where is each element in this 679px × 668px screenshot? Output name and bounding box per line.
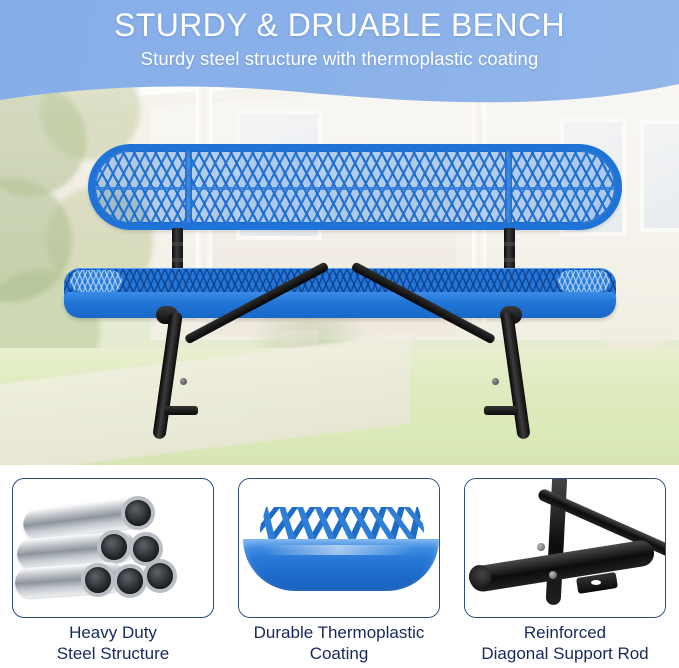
steel-tube-end: [121, 496, 155, 530]
steel-tube-end: [143, 559, 177, 593]
mounting-foot-right: [484, 406, 518, 415]
steel-tube-end: [97, 530, 131, 564]
post-band: [504, 258, 515, 262]
feature-caption-heavy-duty: Heavy Duty Steel Structure: [12, 622, 214, 664]
steel-tube-end: [113, 564, 147, 598]
support-rod-icon: [465, 479, 665, 617]
caption-line-1: Durable Thermoplastic: [238, 622, 440, 643]
bench-seat-front-rail: [64, 292, 616, 318]
post-band: [504, 242, 515, 246]
backrest-rib-right: [505, 151, 512, 223]
caption-line-2: Coating: [238, 643, 440, 664]
steel-tubes-icon: [13, 479, 213, 617]
leg-bolt-right: [492, 378, 499, 385]
hero-section: STURDY & DRUABLE BENCH Sturdy steel stru…: [0, 0, 679, 465]
steel-tube-end: [81, 563, 115, 597]
backrest-rib-left: [185, 151, 192, 223]
bench-leg-left: [152, 311, 183, 440]
mounting-foot-left: [164, 406, 198, 415]
banner-title: STURDY & DRUABLE BENCH: [0, 7, 679, 44]
thermoplastic-coating-icon: [239, 479, 439, 617]
rod-bolt: [549, 571, 557, 579]
bench-backrest: [88, 144, 622, 230]
mounting-hole: [591, 580, 601, 585]
caption-line-2: Steel Structure: [12, 643, 214, 664]
feature-panels: Heavy Duty Steel Structure Durable Therm…: [0, 470, 679, 668]
bench-leg-right: [500, 311, 531, 440]
caption-line-2: Diagonal Support Rod: [464, 643, 666, 664]
caption-line-1: Reinforced: [464, 622, 666, 643]
backrest-midline: [95, 187, 615, 190]
post-band: [172, 242, 183, 246]
caption-line-1: Heavy Duty: [12, 622, 214, 643]
feature-panel-durable-thermoplastic-coating[interactable]: [238, 478, 440, 618]
coating-highlight: [263, 545, 413, 555]
leg-bolt-left: [180, 378, 187, 385]
feature-panel-heavy-duty-steel-structure[interactable]: [12, 478, 214, 618]
feature-caption-support-rod: Reinforced Diagonal Support Rod: [464, 622, 666, 664]
banner-subtitle: Sturdy steel structure with thermoplasti…: [0, 48, 679, 70]
post-band: [172, 258, 183, 262]
feature-panel-reinforced-diagonal-support-rod[interactable]: [464, 478, 666, 618]
feature-caption-thermoplastic: Durable Thermoplastic Coating: [238, 622, 440, 664]
product-infographic: STURDY & DRUABLE BENCH Sturdy steel stru…: [0, 0, 679, 668]
rod-bolt: [537, 543, 545, 551]
seat-cap-mesh-right: [558, 270, 610, 292]
seat-cap-mesh-left: [70, 270, 122, 292]
